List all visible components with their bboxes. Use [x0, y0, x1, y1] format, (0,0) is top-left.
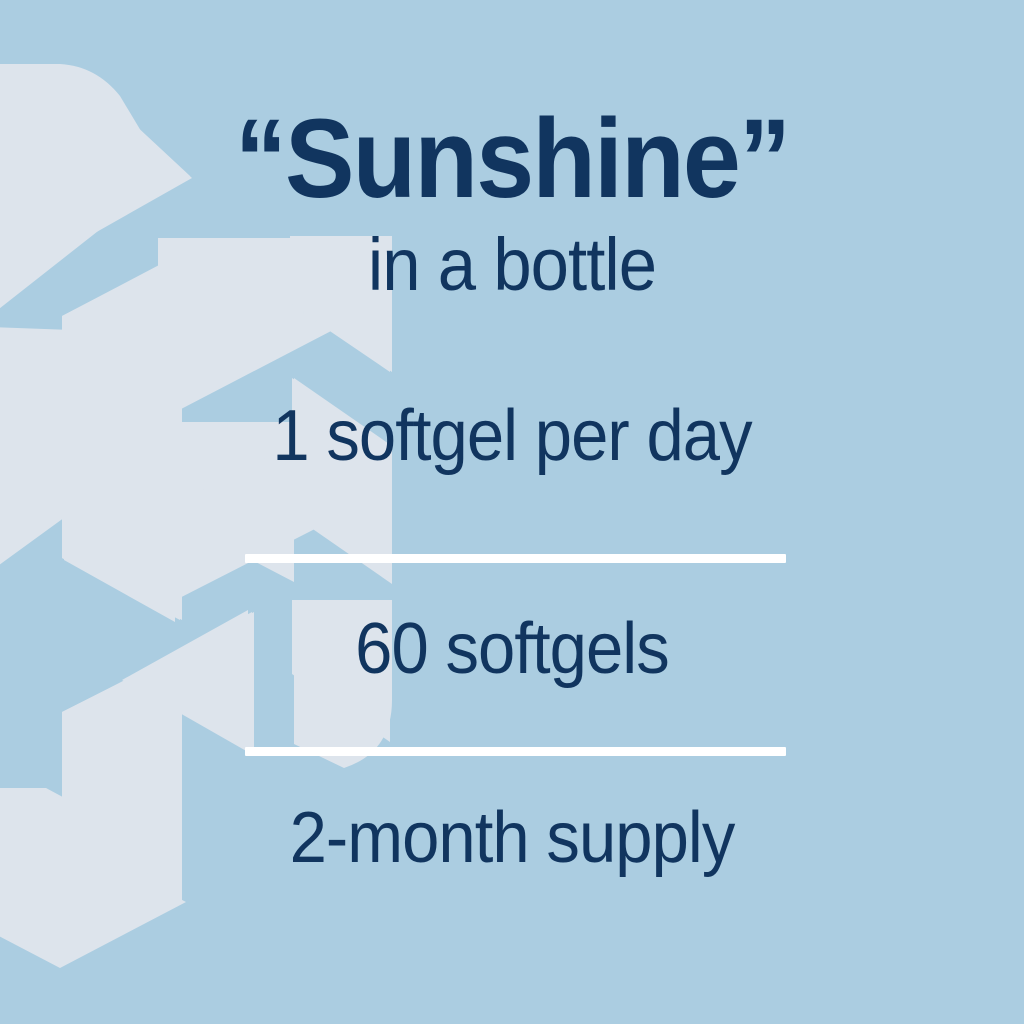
fact-dosage: 1 softgel per day [36, 400, 988, 472]
page-title: “Sunshine” [36, 103, 988, 215]
product-info-card: “Sunshine” in a bottle 1 softgel per day… [0, 0, 1024, 1024]
divider-2 [245, 747, 786, 756]
fact-supply: 2-month supply [36, 802, 988, 874]
divider-1 [245, 554, 786, 563]
page-subtitle: in a bottle [36, 228, 988, 302]
fact-count: 60 softgels [36, 613, 988, 685]
